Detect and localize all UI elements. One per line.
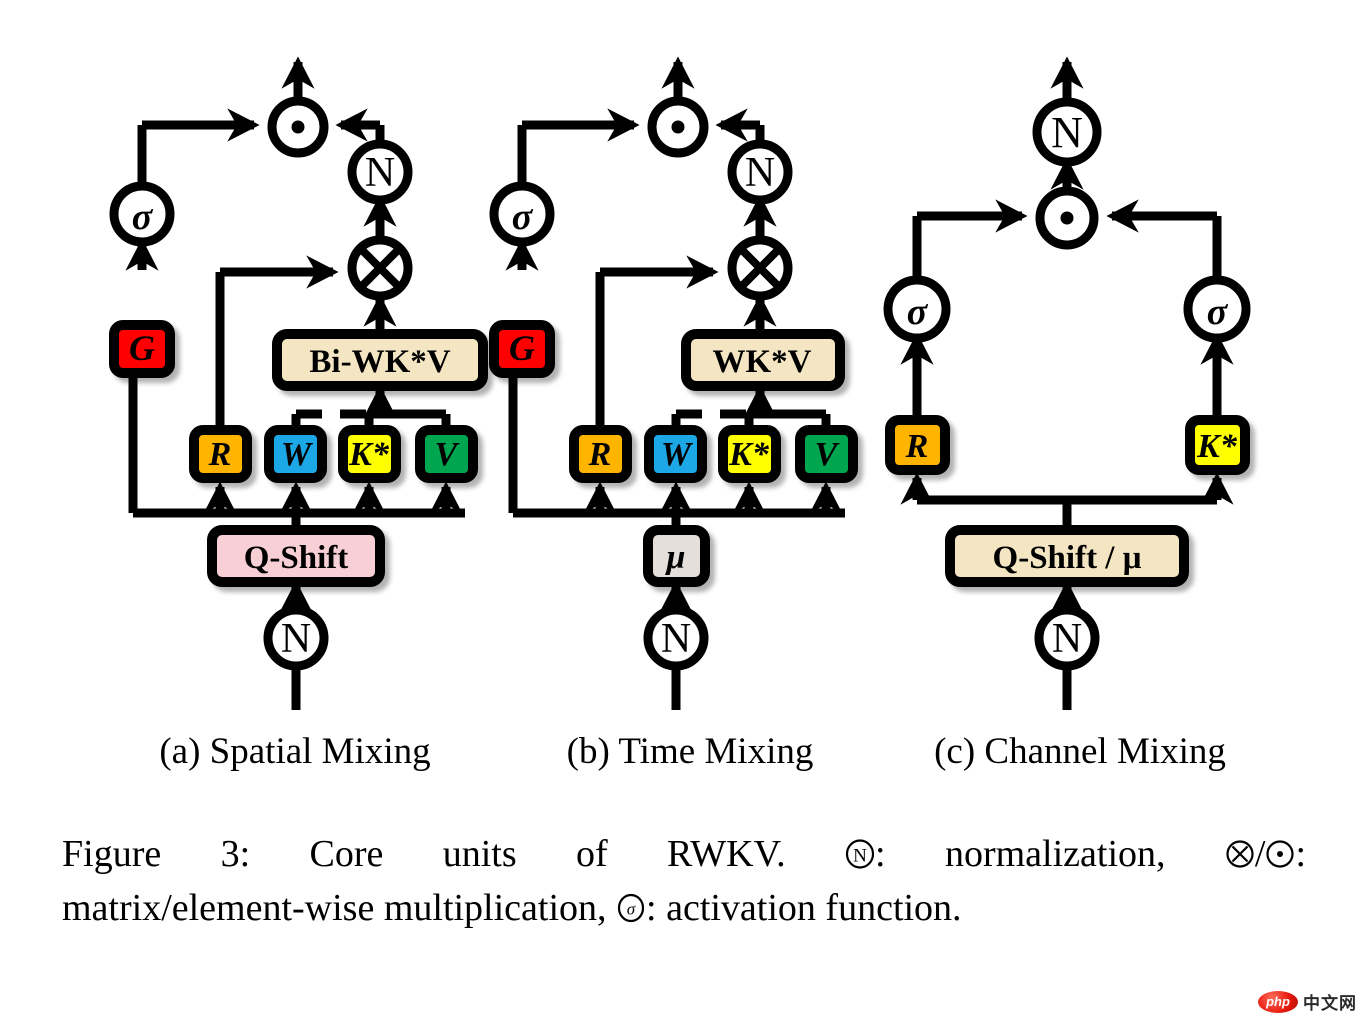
activation-symbol-icon: σ [616,893,646,923]
c-norm-node: N [1037,102,1097,162]
panel-caption-c: (c) Channel Mixing [855,730,1305,773]
panel-caption-b: (b) Time Mixing [490,730,890,773]
matrix-mult-symbol-icon [1225,839,1255,869]
a-norm-node: N [352,144,408,200]
c-right-sigma-label: σ [1207,291,1229,333]
a-K-label: K* [348,436,390,473]
b-norm-label: N [745,150,775,196]
figure-caption-text-4: : [1295,833,1306,875]
figure-container: .ln { stroke:#000; stroke-width:9; fill:… [0,0,1363,1020]
b-K-label: K* [728,436,770,473]
b-hadamard-node [652,101,704,153]
figure-caption-text-1: Figure 3: Core units of RWKV. [62,833,845,875]
c-shift-label: Q-Shift / μ [993,540,1142,576]
watermark-site-text: 中文网 [1303,989,1357,1014]
a-input-norm-node: N [268,610,324,666]
b-R-label: R [588,436,612,473]
a-matmul-node [352,240,408,296]
php-logo-icon: php [1258,991,1298,1013]
b-kernel-label: WK*V [713,344,812,380]
b-matmul-node [732,240,788,296]
b-sigma-label: σ [512,196,534,238]
figure-caption-text-5: matrix/element-wise multiplication, [62,887,616,929]
b-W-label: W [661,436,694,473]
c-K-label: K* [1196,428,1238,465]
a-hadamard-node [272,101,324,153]
a-norm-label: N [365,150,395,196]
c-hadamard-node [1040,191,1094,245]
a-R-label: R [208,436,232,473]
rwkv-core-units-diagram: .ln { stroke:#000; stroke-width:9; fill:… [0,0,1363,710]
figure-caption-line-2: matrix/element-wise multiplication, σ: a… [62,882,1306,936]
c-left-sigma-label: σ [907,291,929,333]
a-W-label: W [281,436,314,473]
a-sigma-label: σ [132,196,154,238]
svg-text:N: N [853,846,867,867]
a-V-label: V [435,436,460,473]
b-input-norm-label: N [661,616,691,662]
watermark: php 中文网 [1258,989,1357,1014]
b-V-label: V [815,436,840,473]
a-gate-label: G [129,328,155,368]
figure-caption-text-6: : activation function. [646,887,962,929]
a-sigma-node: σ [114,186,170,242]
panel-c-channel-mixing: N σ σ N [888,62,1246,710]
svg-text:σ: σ [627,899,636,918]
c-input-norm-node: N [1039,610,1095,666]
c-right-sigma-node: σ [1188,280,1246,338]
figure-caption-text-2: : normalization, [875,833,1225,875]
b-norm-node: N [732,144,788,200]
figure-caption: Figure 3: Core units of RWKV. N: normali… [62,828,1306,936]
c-input-norm-label: N [1052,616,1082,662]
panel-b-time-mixing: N σ N G WK*V [494,62,853,710]
elementwise-mult-symbol-icon [1265,839,1295,869]
b-input-norm-node: N [648,610,704,666]
c-R-label: R [905,428,929,465]
b-shift-label: μ [665,539,686,576]
figure-caption-line-1: Figure 3: Core units of RWKV. N: normali… [62,828,1306,882]
panel-caption-a: (a) Spatial Mixing [60,730,530,773]
a-input-norm-label: N [281,616,311,662]
normalization-symbol-icon: N [845,839,875,869]
b-sigma-node: σ [494,186,550,242]
b-gate-label: G [509,328,535,368]
panel-a-spatial-mixing: N σ N G [114,62,483,710]
c-norm-label: N [1051,108,1083,157]
a-kernel-label: Bi-WK*V [309,344,450,380]
figure-caption-text-3: / [1255,833,1266,875]
c-left-sigma-node: σ [888,280,946,338]
a-shift-label: Q-Shift [244,540,349,576]
